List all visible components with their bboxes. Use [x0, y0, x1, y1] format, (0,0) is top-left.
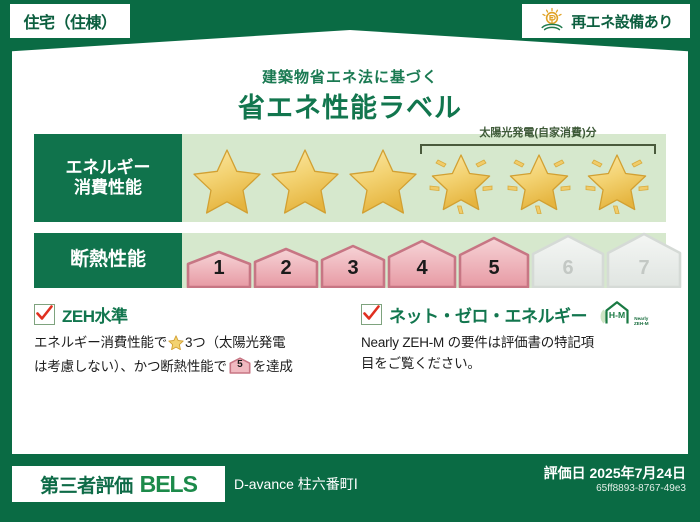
- zeh-m-caption-line1: Nearly: [634, 316, 648, 321]
- insulation-performance-row-body: 1 2 3: [182, 233, 666, 288]
- label-title: 省エネ性能ラベル: [12, 86, 688, 125]
- energy-performance-label: 住宅（住棟） 再エネ: [0, 0, 700, 522]
- insulation-grade-scale: 1 2 3: [186, 233, 682, 288]
- insulation-grade-7-number: 7: [606, 257, 682, 280]
- note-zeh-standard-body: エネルギー消費性能で3つ（太陽光発電は考慮しない）、かつ断熱性能で5を達成: [34, 333, 343, 378]
- nearly-zeh-m-logo: H-M Nearly ZEH-M: [598, 299, 649, 330]
- check-icon: [361, 304, 382, 325]
- zeh-m-caption-line2: ZEH-M: [634, 321, 649, 326]
- note-net-zero-energy-head: ネット・ゼロ・エネルギー H-M Nearly: [361, 302, 670, 326]
- insulation-grade-3: 3: [320, 244, 386, 288]
- insulation-grade-5: 5: [458, 236, 530, 288]
- insulation-grade-6: 6: [531, 234, 605, 288]
- insulation-grade-2: 2: [253, 247, 319, 288]
- insulation-grade-5-number: 5: [458, 257, 530, 280]
- star-rating: [182, 134, 666, 222]
- insulation-grade-1-number: 1: [186, 257, 252, 280]
- building-name: D-avance 柱六番町Ⅰ: [234, 474, 358, 494]
- notes-section: ZEH水準 エネルギー消費性能で3つ（太陽光発電は考慮しない）、かつ断熱性能で5…: [34, 302, 670, 378]
- note-zeh-standard: ZEH水準 エネルギー消費性能で3つ（太陽光発電は考慮しない）、かつ断熱性能で5…: [34, 302, 343, 378]
- label-header: 住宅（住棟） 再エネ: [0, 0, 700, 54]
- insulation-label: 断熱性能: [70, 249, 146, 271]
- star-icon: [266, 142, 344, 214]
- energy-performance-row: エネルギー 消費性能 太陽光発電(自家消費)分: [34, 134, 666, 222]
- insulation-grade-4: 4: [387, 239, 457, 288]
- third-party-eval-label: 第三者評価: [40, 471, 133, 498]
- star-icon-inline: [168, 335, 184, 357]
- check-icon: [34, 304, 55, 325]
- svg-text:H-M: H-M: [609, 310, 625, 320]
- housing-type-tag: 住宅（住棟）: [10, 4, 130, 38]
- insulation-grade-6-number: 6: [531, 257, 605, 280]
- zeh-m-house-icon: H-M: [598, 299, 632, 330]
- note-net-zero-energy-body: Nearly ZEH-M の要件は評価書の特記項 目をご覧ください。: [361, 333, 670, 375]
- note-nze-text-2: 目をご覧ください。: [361, 356, 481, 371]
- insulation-grade-badge-inline: 5: [229, 357, 251, 374]
- insulation-performance-row-label: 断熱性能: [34, 233, 182, 288]
- insulation-grade-2-number: 2: [253, 257, 319, 280]
- star-icon-solar: [578, 142, 656, 214]
- note-nze-text-1: Nearly ZEH-M の要件は評価書の特記項: [361, 335, 594, 350]
- label-body-panel: 建築物省エネ法に基づく 省エネ性能ラベル エネルギー 消費性能 太陽光発電(自家…: [12, 30, 688, 454]
- note-zeh-standard-head: ZEH水準: [34, 302, 343, 326]
- insulation-grade-4-number: 4: [387, 257, 457, 280]
- note-net-zero-energy-title: ネット・ゼロ・エネルギー: [389, 302, 587, 327]
- energy-performance-row-body: 太陽光発電(自家消費)分: [182, 134, 666, 222]
- energy-label-line2: 消費性能: [74, 178, 142, 198]
- bels-certification-badge: 第三者評価 BELS: [12, 466, 225, 502]
- housing-type-tag-label: 住宅（住棟）: [23, 9, 116, 33]
- note-net-zero-energy: ネット・ゼロ・エネルギー H-M Nearly: [361, 302, 670, 378]
- insulation-grade-7: 7: [606, 232, 682, 288]
- note-zeh-text-2: 3つ（太陽光発電: [185, 335, 285, 350]
- nearly-zeh-m-logo-caption: Nearly ZEH-M: [634, 316, 649, 330]
- note-zeh-text-4: を達成: [253, 359, 293, 374]
- renewable-equipment-tag-label: 再エネ設備あり: [571, 11, 673, 32]
- evaluation-id: 65ff8893-8767-49e3: [596, 483, 686, 494]
- label-subtitle: 建築物省エネ法に基づく: [12, 66, 688, 87]
- star-icon: [188, 142, 266, 214]
- insulation-grade-3-number: 3: [320, 257, 386, 280]
- note-zeh-text-3: は考慮しない）、かつ断熱性能で: [34, 359, 227, 374]
- star-icon-solar: [500, 142, 578, 214]
- insulation-grade-1: 1: [186, 250, 252, 288]
- solar-sun-icon: [539, 7, 565, 36]
- evaluation-date: 評価日 2025年7月24日: [544, 463, 686, 483]
- note-zeh-standard-title: ZEH水準: [62, 302, 128, 327]
- energy-performance-row-label: エネルギー 消費性能: [34, 134, 182, 222]
- energy-label-line1: エネルギー: [66, 158, 151, 178]
- star-icon-solar: [422, 142, 500, 214]
- insulation-grade-badge-number: 5: [229, 357, 251, 373]
- insulation-performance-row: 断熱性能: [34, 233, 666, 288]
- bels-logo-text: BELS: [140, 471, 197, 498]
- renewable-equipment-tag: 再エネ設備あり: [522, 4, 690, 38]
- note-zeh-text-1: エネルギー消費性能で: [34, 335, 167, 350]
- star-icon: [344, 142, 422, 214]
- label-footer: 第三者評価 BELS D-avance 柱六番町Ⅰ 評価日 2025年7月24日…: [0, 454, 700, 522]
